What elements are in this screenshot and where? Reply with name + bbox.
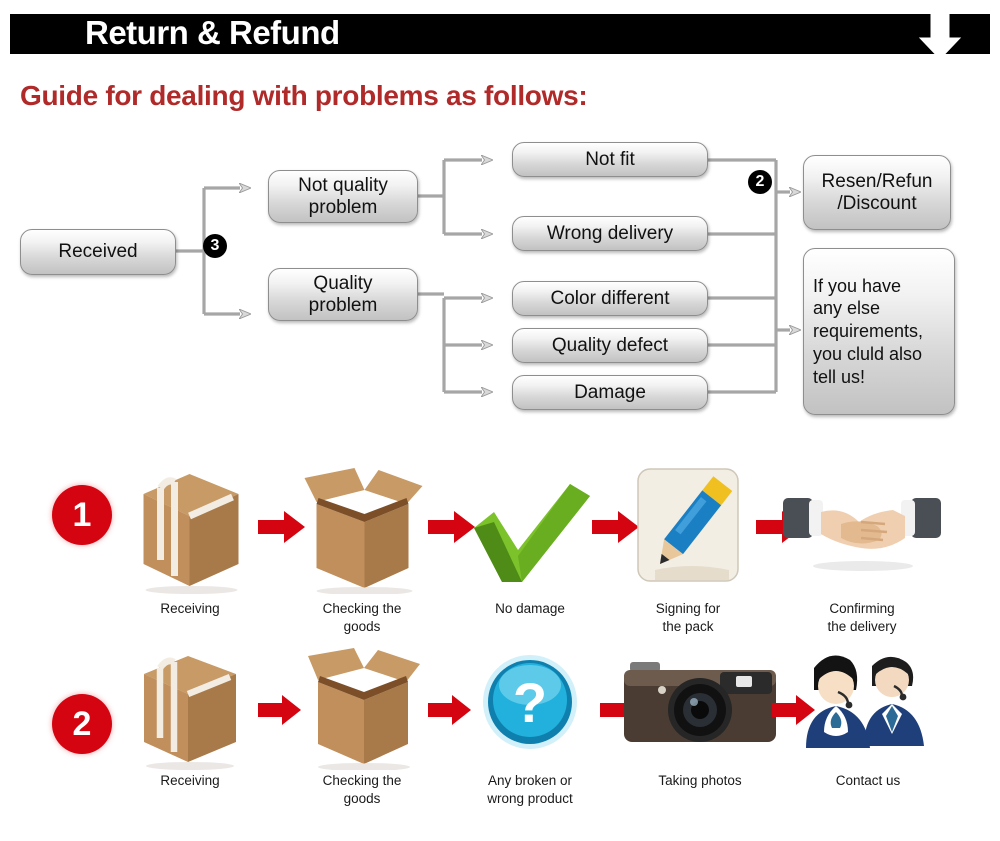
flow-node-damage: Damage bbox=[512, 375, 708, 410]
process-step-label: Receiving bbox=[100, 772, 280, 790]
process-step: Confirming the delivery bbox=[772, 460, 952, 640]
flow-node-received: Received bbox=[20, 229, 176, 275]
flow-node-color-different-label: Color different bbox=[551, 288, 670, 309]
flow-node-resend-refund-discount-label: Resen/Refun /Discount bbox=[822, 171, 933, 214]
process-step-label: Taking photos bbox=[610, 772, 790, 790]
process-step: Receiving bbox=[100, 632, 280, 812]
guide-subtitle: Guide for dealing with problems as follo… bbox=[20, 80, 587, 112]
process-step-label: Confirming the delivery bbox=[772, 600, 952, 636]
problem-flowchart: Received 3 Not quality problem Quality p… bbox=[0, 130, 1000, 430]
closed-box-icon bbox=[130, 646, 250, 775]
flow-node-not-fit: Not fit bbox=[512, 142, 708, 177]
closed-box-icon bbox=[128, 464, 253, 599]
process-step: Signing for the pack bbox=[598, 460, 778, 640]
flow-node-quality-problem: Quality problem bbox=[268, 268, 418, 321]
flow-node-received-label: Received bbox=[58, 241, 137, 262]
flow-node-not-quality-problem-label: Not quality problem bbox=[298, 175, 388, 218]
flow-node-damage-label: Damage bbox=[574, 382, 646, 403]
process-row-1-number-label: 1 bbox=[73, 498, 92, 532]
process-step-label: Checking the goods bbox=[272, 600, 452, 636]
flow-node-wrong-delivery: Wrong delivery bbox=[512, 216, 708, 251]
pencil-signing-icon bbox=[635, 466, 741, 589]
process-row-2: 2 Receiving bbox=[0, 632, 1000, 812]
blue-question-icon: ? bbox=[480, 652, 580, 757]
open-box-icon bbox=[296, 644, 428, 775]
flow-node-quality-defect: Quality defect bbox=[512, 328, 708, 363]
open-box-icon bbox=[295, 464, 430, 599]
branch-marker-three: 3 bbox=[203, 234, 227, 258]
flow-node-wrong-delivery-label: Wrong delivery bbox=[547, 223, 673, 244]
branch-marker-two-label: 2 bbox=[756, 174, 765, 190]
flow-node-not-quality-problem: Not quality problem bbox=[268, 170, 418, 223]
process-step-label: No damage bbox=[440, 600, 620, 618]
process-step: No damage bbox=[440, 460, 620, 640]
branch-marker-three-label: 3 bbox=[211, 238, 220, 254]
flow-node-quality-defect-label: Quality defect bbox=[552, 335, 668, 356]
flow-node-color-different: Color different bbox=[512, 281, 708, 316]
branch-marker-two: 2 bbox=[748, 170, 772, 194]
flow-node-quality-problem-label: Quality problem bbox=[309, 273, 378, 316]
process-step: Checking the goods bbox=[272, 460, 452, 640]
process-step: ? Any broken or wrong product bbox=[440, 632, 620, 812]
process-step-label: Checking the goods bbox=[272, 772, 452, 808]
return-refund-infographic: Return & Refund Guide for dealing with p… bbox=[0, 0, 1000, 841]
flow-node-not-fit-label: Not fit bbox=[585, 149, 635, 170]
process-step: Taking photos bbox=[600, 632, 800, 812]
green-check-icon bbox=[466, 478, 594, 593]
down-arrow-icon bbox=[918, 14, 962, 60]
support-agents-icon bbox=[802, 648, 934, 759]
process-step: Receiving bbox=[100, 460, 280, 640]
process-row-2-number-label: 2 bbox=[73, 707, 92, 741]
process-step: Contact us bbox=[778, 632, 958, 812]
flow-node-else-requirements-label: If you have any else requirements, you c… bbox=[813, 275, 923, 388]
handshake-icon bbox=[781, 482, 943, 587]
flow-node-else-requirements: If you have any else requirements, you c… bbox=[803, 248, 955, 415]
page-title: Return & Refund bbox=[85, 13, 340, 53]
flow-node-resend-refund-discount: Resen/Refun /Discount bbox=[803, 155, 951, 230]
process-step-label: Signing for the pack bbox=[598, 600, 778, 636]
camera-icon bbox=[620, 656, 780, 753]
svg-text:?: ? bbox=[513, 671, 547, 734]
process-step-label: Receiving bbox=[100, 600, 280, 618]
process-step-label: Contact us bbox=[778, 772, 958, 790]
process-step-label: Any broken or wrong product bbox=[440, 772, 620, 808]
process-step: Checking the goods bbox=[272, 632, 452, 812]
process-row-1: 1 Receiving bbox=[0, 460, 1000, 640]
